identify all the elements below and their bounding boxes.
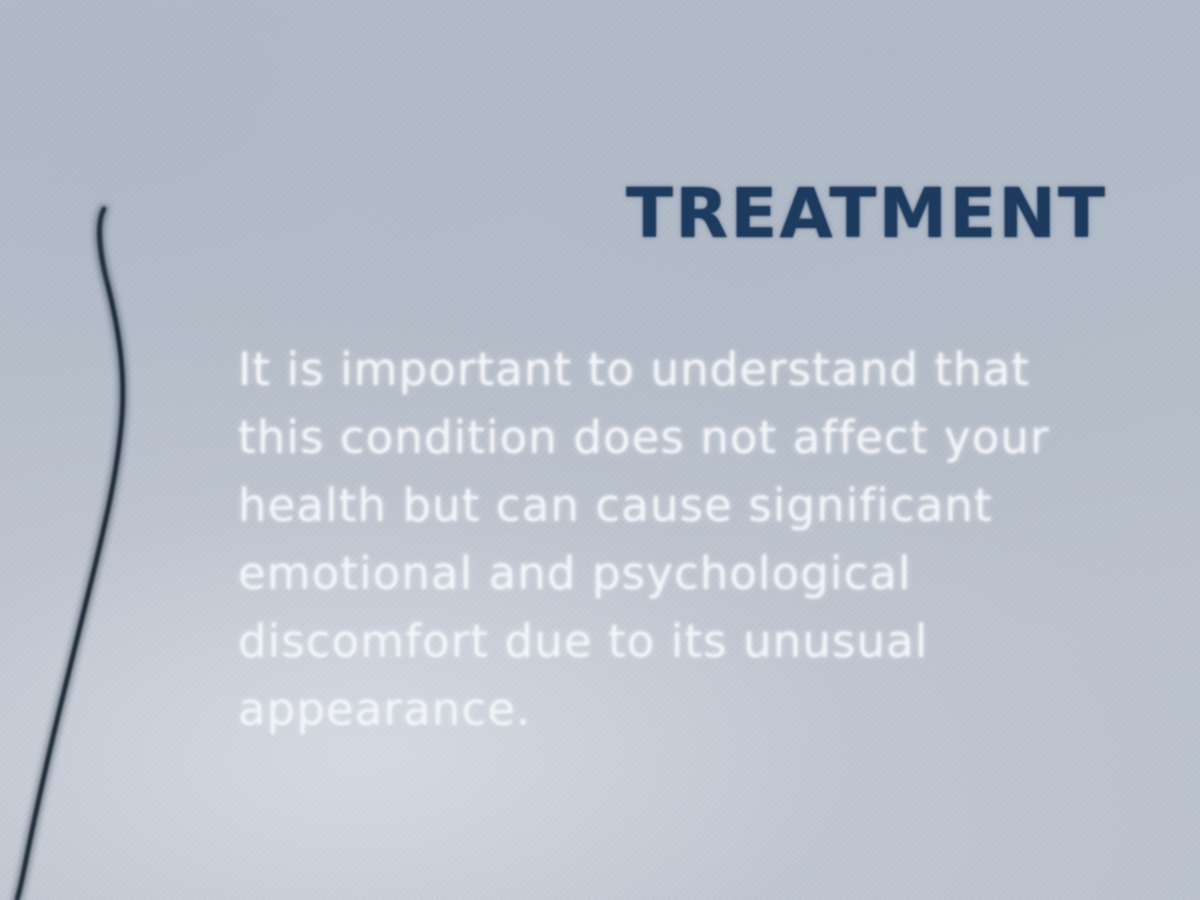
body-line: emotional and psychological <box>238 540 1200 608</box>
body-line: It is important to understand that <box>238 336 1200 404</box>
body-line: this condition does not affect your <box>238 404 1200 472</box>
page-title: TREATMENT <box>626 172 1107 256</box>
body-paragraph: It is important to understand that this … <box>238 336 1200 744</box>
slide-canvas: TREATMENT It is important to understand … <box>0 0 1200 900</box>
body-line: appearance. <box>238 676 1200 744</box>
body-line: health but can cause significant <box>238 472 1200 540</box>
body-line: discomfort due to its unusual <box>238 608 1200 676</box>
